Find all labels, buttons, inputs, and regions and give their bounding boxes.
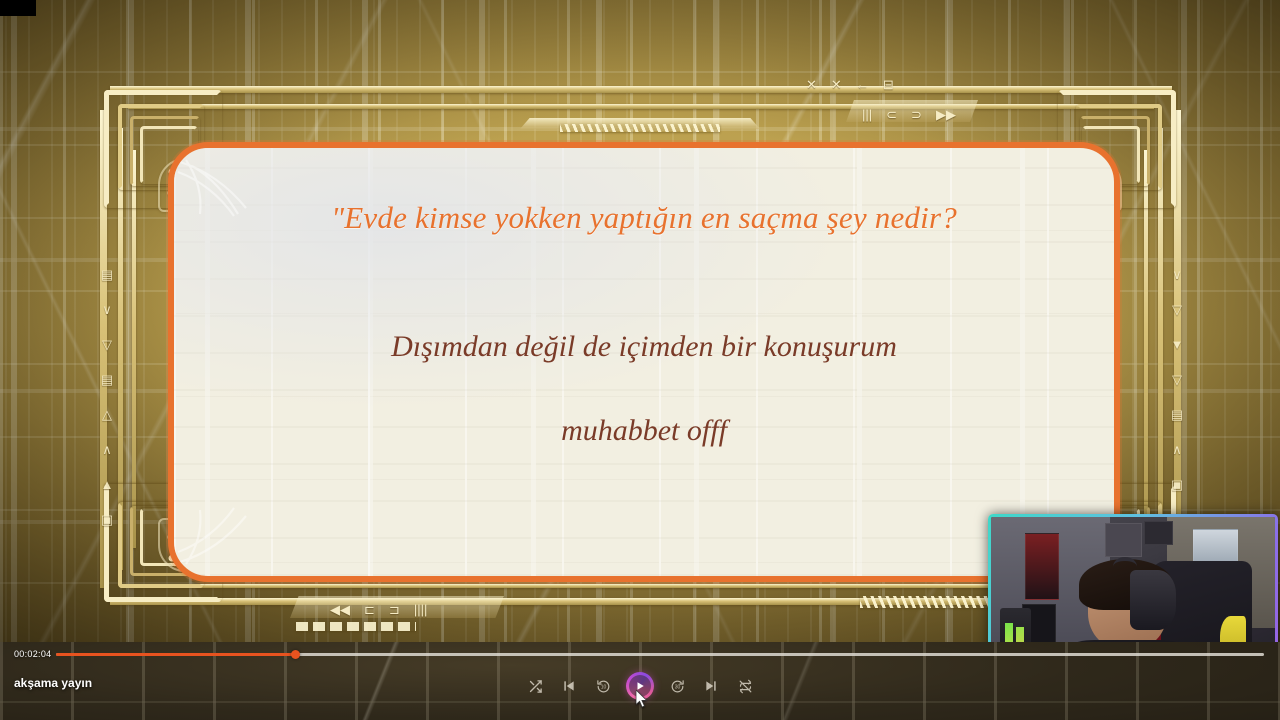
next-button[interactable] (700, 675, 722, 697)
card-content: "Evde kimse yokken yaptığın en saçma şey… (174, 148, 1114, 576)
webcam-poster (1144, 521, 1172, 545)
next-icon (704, 679, 718, 693)
svg-text:10: 10 (600, 684, 606, 690)
answer-text: Dışımdan değil de içimden bir konuşurum … (391, 332, 897, 446)
svg-text:30: 30 (674, 684, 680, 690)
question-text: "Evde kimse yokken yaptığın en saçma şey… (331, 200, 957, 236)
repeat-off-button[interactable] (734, 675, 756, 697)
answer-line-1: Dışımdan değil de içimden bir konuşurum (391, 330, 897, 363)
rewind-10-button[interactable]: 10 (592, 675, 614, 697)
current-time: 00:02:04 (14, 649, 51, 659)
repeat-off-icon (738, 679, 753, 694)
previous-icon (562, 679, 576, 693)
forward-30-icon: 30 (670, 679, 685, 694)
top-black-bar (0, 0, 36, 16)
quote-card: "Evde kimse yokken yaptığın en saçma şey… (168, 142, 1120, 582)
forward-30-button[interactable]: 30 (666, 675, 688, 697)
rewind-10-icon: 10 (596, 679, 611, 694)
headset-icon (1130, 570, 1175, 629)
progress-fill (56, 653, 295, 656)
shuffle-button[interactable] (524, 675, 546, 697)
shuffle-icon (528, 679, 543, 694)
mouse-cursor-icon (636, 690, 649, 708)
previous-button[interactable] (558, 675, 580, 697)
video-frame[interactable]: ▤ ∨ ▽ ▤ △ ∧ ▲ ▣ ∨ ▽ ▼ ▽ ▤ ∧ ▣ ✕ ✕ (0, 0, 1280, 642)
player-screen: ▤ ∨ ▽ ▤ △ ∧ ▲ ▣ ∨ ▽ ▼ ▽ ▤ ∧ ▣ ✕ ✕ (0, 0, 1280, 720)
progress-bar[interactable] (56, 653, 1264, 656)
answer-line-2: muhabbet offf (391, 416, 897, 446)
